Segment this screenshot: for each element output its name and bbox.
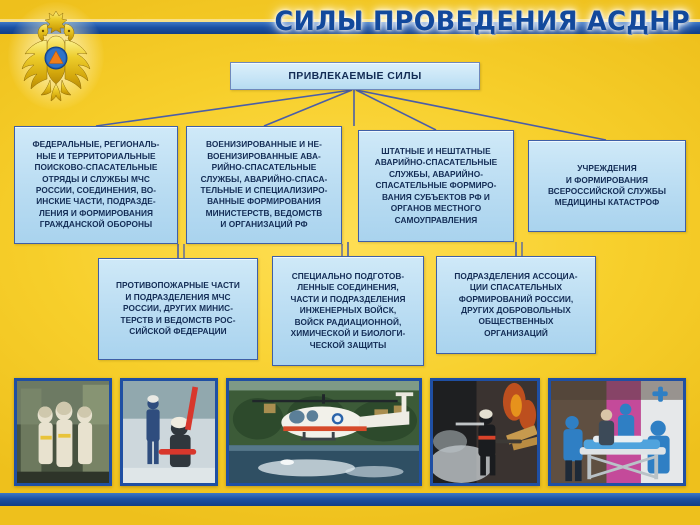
photo-firefighters-with-hose	[120, 378, 218, 486]
node-label: СПЕЦИАЛЬНО ПОДГОТОВ- ЛЕННЫЕ СОЕДИНЕНИЯ, …	[287, 271, 410, 351]
poster-title-wrapper: СИЛЫ ПРОВЕДЕНИЯ АСДНР	[248, 8, 690, 36]
photo-rescuers-in-protective-suits	[14, 378, 112, 486]
photo-strip	[0, 378, 700, 488]
node-label: ВОЕНИЗИРОВАННЫЕ И НЕ- ВОЕНИЗИРОВАННЫЕ АВ…	[197, 139, 332, 230]
node-militarized-rescue-services[interactable]: ВОЕНИЗИРОВАННЫЕ И НЕ- ВОЕНИЗИРОВАННЫЕ АВ…	[186, 126, 342, 244]
root-node-label: ПРИВЛЕКАЕМЫЕ СИЛЫ	[284, 70, 425, 83]
node-regional-rescue-formations[interactable]: ШТАТНЫЕ И НЕШТАТНЫЕ АВАРИЙНО-СПАСАТЕЛЬНЫ…	[358, 130, 514, 242]
root-node-attracted-forces[interactable]: ПРИВЛЕКАЕМЫЕ СИЛЫ	[230, 62, 480, 90]
node-volunteer-rescue-associations[interactable]: ПОДРАЗДЕЛЕНИЯ АССОЦИА- ЦИИ СПАСАТЕЛЬНЫХ …	[436, 256, 596, 354]
poster-canvas: СИЛЫ ПРОВЕДЕНИЯ АСДНР ПРИВЛЕКАЕМЫЕ	[0, 0, 700, 525]
node-firefighting-units[interactable]: ПРОТИВОПОЖАРНЫЕ ЧАСТИ И ПОДРАЗДЕЛЕНИЯ МЧ…	[98, 258, 258, 360]
node-label: ШТАТНЫЕ И НЕШТАТНЫЕ АВАРИЙНО-СПАСАТЕЛЬНЫ…	[371, 146, 501, 226]
node-label: ПОДРАЗДЕЛЕНИЯ АССОЦИА- ЦИИ СПАСАТЕЛЬНЫХ …	[450, 271, 581, 339]
node-label: ФЕДЕРАЛЬНЫЕ, РЕГИОНАЛЬ- НЫЕ И ТЕРРИТОРИА…	[29, 139, 164, 230]
node-engineering-nbc-troops[interactable]: СПЕЦИАЛЬНО ПОДГОТОВ- ЛЕННЫЕ СОЕДИНЕНИЯ, …	[272, 256, 424, 366]
node-label: ПРОТИВОПОЖАРНЫЕ ЧАСТИ И ПОДРАЗДЕЛЕНИЯ МЧ…	[112, 280, 244, 337]
photo-medics-with-stretcher	[548, 378, 686, 486]
photo-firefighters-extinguishing-blaze	[430, 378, 540, 486]
photo-amphibious-firefighting-helicopter	[226, 378, 422, 486]
node-search-and-rescue-units[interactable]: ФЕДЕРАЛЬНЫЕ, РЕГИОНАЛЬ- НЫЕ И ТЕРРИТОРИА…	[14, 126, 178, 244]
page-title: СИЛЫ ПРОВЕДЕНИЯ АСДНР	[274, 8, 690, 36]
node-disaster-medicine-service[interactable]: УЧРЕЖДЕНИЯ И ФОРМИРОВАНИЯ ВСЕРОССИЙСКОЙ …	[528, 140, 686, 232]
node-label: УЧРЕЖДЕНИЯ И ФОРМИРОВАНИЯ ВСЕРОССИЙСКОЙ …	[544, 163, 670, 209]
mchs-emblem	[14, 6, 98, 106]
